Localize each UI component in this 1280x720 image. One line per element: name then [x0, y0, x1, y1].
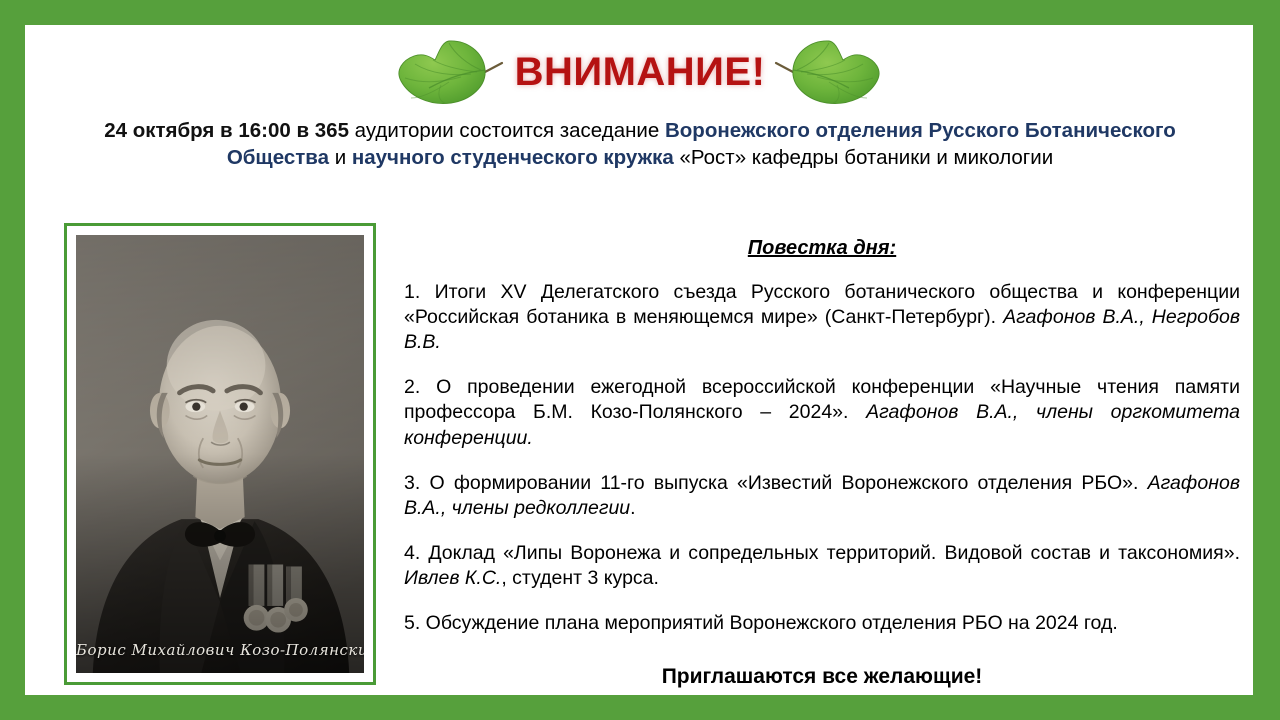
- poster-header: ВНИМАНИЕ!: [25, 33, 1253, 111]
- portrait-frame: Борис Михайлович Козо-Полянский: [64, 223, 376, 685]
- portrait-caption: Борис Михайлович Козо-Полянский: [76, 641, 364, 659]
- attention-title: ВНИМАНИЕ!: [515, 52, 766, 92]
- agenda-item: 5. Обсуждение плана мероприятий Воронежс…: [404, 611, 1240, 636]
- linden-leaf-icon: [769, 36, 889, 108]
- agenda-item: 2. О проведении ежегодной всероссийской …: [404, 375, 1240, 451]
- poster-root: ВНИМАНИЕ!: [0, 0, 1280, 720]
- agenda-item-number: 2.: [404, 376, 420, 398]
- poster-card: ВНИМАНИЕ!: [25, 25, 1253, 695]
- agenda-item: 3. О формировании 11-го выпуска «Извести…: [404, 471, 1240, 522]
- announcement-intro: 24 октября в 16:00 в 365 аудитории состо…: [85, 117, 1195, 171]
- agenda-item: 4. Доклад «Липы Воронежа и сопредельных …: [404, 541, 1240, 592]
- agenda-section: Повестка дня: 1. Итоги XV Делегатского с…: [404, 237, 1240, 636]
- agenda-item-speaker: Ивлев К.С.: [404, 567, 501, 589]
- agenda-item-text: Обсуждение плана мероприятий Воронежског…: [420, 612, 1118, 634]
- agenda-item-text: О формировании 11-го выпуска «Известий В…: [420, 472, 1147, 494]
- agenda-item-number: 5.: [404, 612, 420, 634]
- agenda-item-text-after: .: [630, 497, 635, 519]
- closing-invitation: Приглашаются все желающие!: [404, 665, 1240, 689]
- agenda-item-number: 4.: [404, 542, 420, 564]
- agenda-item-number: 3.: [404, 472, 420, 494]
- agenda-title: Повестка дня:: [404, 237, 1240, 260]
- agenda-item-number: 1.: [404, 281, 420, 303]
- portrait-photo: Борис Михайлович Козо-Полянский: [76, 235, 364, 673]
- agenda-item: 1. Итоги XV Делегатского съезда Русского…: [404, 280, 1240, 356]
- linden-leaf-icon: [389, 36, 509, 108]
- intro-tail: «Рост» кафедры ботаники и микологии: [674, 146, 1053, 169]
- intro-organization-secondary: научного студенческого кружка: [352, 146, 674, 169]
- intro-mid-1: аудитории состоится заседание: [349, 119, 665, 142]
- agenda-item-text-after: , студент 3 курса.: [501, 567, 659, 589]
- intro-mid-2: и: [329, 146, 352, 169]
- intro-datetime: 24 октября в 16:00 в 365: [104, 119, 349, 142]
- agenda-item-text: Доклад «Липы Воронежа и сопредельных тер…: [420, 542, 1240, 564]
